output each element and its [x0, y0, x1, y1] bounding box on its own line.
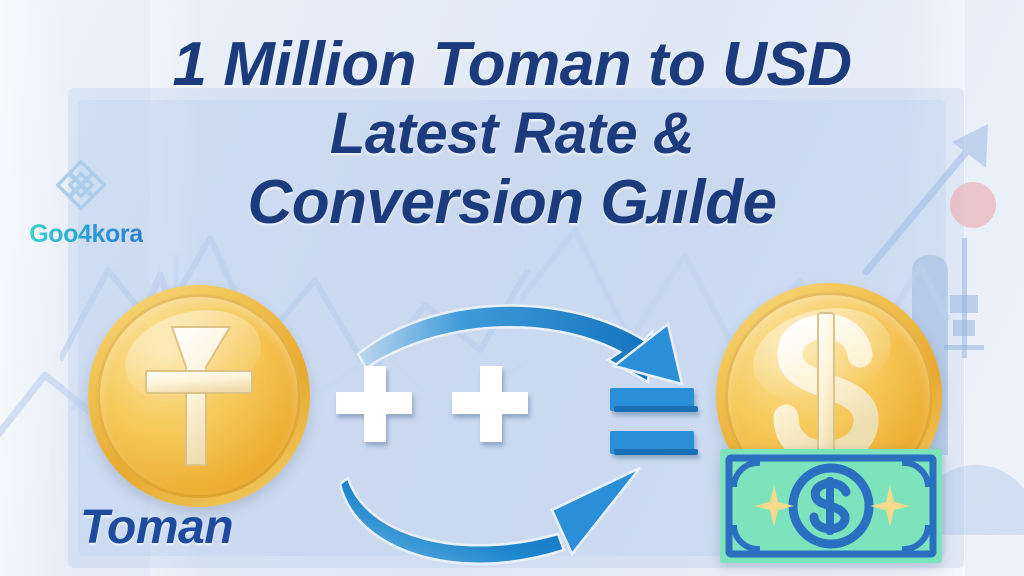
page-title-line-3: Conversion Gɹılde: [0, 172, 1024, 234]
equals-sign: [610, 386, 700, 456]
plus-sign-1: [334, 364, 416, 446]
toman-label: Toman: [80, 500, 233, 555]
skyline-tower-block: [950, 295, 978, 313]
poster-canvas: Goo4kora 1 Million Toman to USD Latest R…: [0, 0, 1024, 576]
dollar-banknote-icon: [718, 447, 944, 565]
plus-sign-2: [450, 364, 532, 446]
page-title: 1 Million Toman to USD Latest Rate & Con…: [0, 34, 1024, 234]
curved-arrow-up-right-icon: [340, 458, 670, 573]
coin-symbol-wrap: [88, 285, 310, 507]
toman-symbol-icon: [134, 321, 264, 471]
skyline-tower-block: [953, 320, 975, 336]
page-title-line-1: 1 Million Toman to USD: [0, 34, 1024, 96]
skyline-tower-block: [944, 345, 984, 350]
skyline-tower-mast: [962, 238, 967, 358]
toman-coin-icon: [88, 285, 310, 507]
page-title-line-2: Latest Rate &: [0, 105, 1024, 163]
